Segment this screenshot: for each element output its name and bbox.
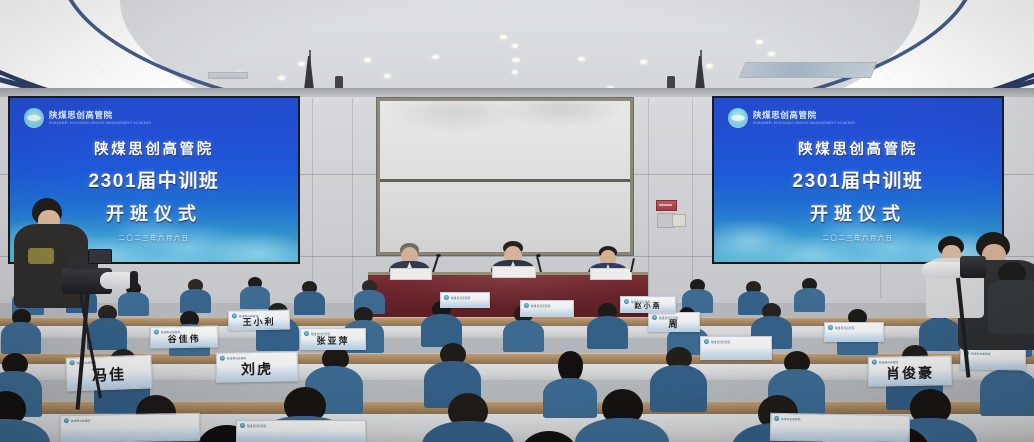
wall-outlet-icon [672, 214, 686, 227]
card-emblem-text: 陕煤思创高管院 [161, 330, 181, 334]
screen-title-line1: 陕煤思创高管院 [94, 138, 214, 159]
card-emblem-text: 陕煤思创高管院 [879, 360, 899, 364]
card-emblem: 陕煤思创高管院 [828, 325, 855, 330]
name-card: 陕煤思创高管院 [770, 413, 910, 442]
institute-emblem-icon [304, 331, 309, 336]
card-emblem-text: 陕煤思创高管院 [711, 340, 731, 344]
name-card: 陕煤思创高管院 [440, 292, 490, 308]
card-emblem-text: 陕煤思创高管院 [531, 304, 551, 308]
screen-title-line2: 2301届中训班 [88, 166, 219, 193]
card-emblem: 陕煤思创高管院 [304, 331, 331, 336]
jacket-graphic [28, 248, 54, 264]
screen-logo-en: SHAANMEI SICHUANG SENIOR MANAGEMENT ACAD… [753, 122, 856, 125]
name-card-label: 刘虎 [241, 358, 273, 379]
card-emblem-text: 陕煤思创高管院 [247, 424, 267, 428]
name-card: 陕煤思创高管院 [960, 347, 1026, 370]
projection-screen-seam [380, 179, 630, 182]
screen-title-line3: 开班仪式 [810, 200, 906, 226]
card-emblem-text: 陕煤思创高管院 [451, 296, 471, 300]
name-card: 陕煤思创高管院肖俊豪 [868, 355, 953, 386]
institute-emblem-icon [444, 295, 449, 300]
screen-logo-cn: 陕煤思创高管院 [753, 111, 856, 120]
card-emblem-text: 陕煤思创高管院 [631, 300, 651, 304]
fire-alarm-icon [656, 200, 677, 211]
institute-emblem-icon [24, 108, 44, 128]
screen-title-line2: 2301届中训班 [792, 166, 923, 193]
card-emblem: 陕煤思创高管院 [704, 339, 731, 344]
card-emblem: 陕煤思创高管院 [232, 313, 259, 318]
name-card: 陕煤思创高管院王小利 [228, 309, 290, 330]
ceiling-spot-icon [162, 78, 169, 82]
ceiling-spot-icon [100, 70, 107, 74]
institute-emblem-icon [232, 313, 237, 318]
name-card: 陕煤思创高管院 [520, 300, 574, 317]
ceiling-spot-icon [578, 57, 585, 61]
card-emblem-text: 陕煤思创高管院 [659, 316, 679, 320]
crew-jacket [988, 280, 1034, 334]
institute-emblem-icon [154, 329, 159, 334]
screen-logo: 陕煤思创高管院 SHAANMEI SICHUANG SENIOR MANAGEM… [728, 108, 856, 128]
card-emblem: 陕煤思创高管院 [64, 418, 91, 423]
institute-emblem-icon [524, 303, 529, 308]
institute-emblem-icon [64, 418, 69, 423]
name-card: 陕煤思创高管院 [236, 420, 366, 442]
card-emblem-text: 陕煤思创高管院 [71, 418, 91, 422]
ceiling-spot-icon [948, 82, 955, 86]
card-emblem: 陕煤思创高管院 [624, 299, 651, 304]
card-emblem-text: 陕煤思创高管院 [311, 332, 331, 336]
ceiling-spot-icon [512, 44, 518, 48]
card-emblem-text: 陕煤思创高管院 [239, 314, 259, 318]
screen-title-block: 陕煤思创高管院 2301届中训班 开班仪式 [714, 138, 1002, 226]
ceiling-spot-icon [512, 70, 518, 74]
screen-logo-en: SHAANMEI SICHUANG SENIOR MANAGEMENT ACAD… [49, 122, 152, 125]
card-emblem: 陕煤思创高管院 [774, 416, 801, 421]
name-card: 陕煤思创高管院 [60, 413, 200, 442]
ceiling-spot-icon [512, 58, 520, 62]
screen-logo-cn: 陕煤思创高管院 [49, 111, 152, 120]
screen-title-line3: 开班仪式 [106, 200, 202, 226]
institute-emblem-icon [240, 423, 245, 428]
ceiling-air-vent [739, 62, 877, 78]
camera-lens-hood-icon [130, 271, 138, 290]
projection-screen-frame [376, 97, 634, 256]
card-emblem: 陕煤思创高管院 [524, 303, 551, 308]
ceiling-spot-icon [432, 55, 439, 59]
ceiling-spot-icon [640, 60, 647, 64]
name-card: 陕煤思创高管院赵小燕 [620, 296, 676, 313]
ceiling [0, 0, 1034, 96]
card-emblem: 陕煤思创高管院 [872, 359, 899, 364]
card-emblem-text: 陕煤思创高管院 [227, 356, 247, 360]
ceiling-spot-icon [756, 40, 763, 44]
screen-logo: 陕煤思创高管院 SHAANMEI SICHUANG SENIOR MANAGEM… [24, 108, 152, 128]
name-card: 陕煤思创高管院张亚萍 [300, 328, 366, 350]
ceiling-spot-icon [768, 52, 775, 56]
card-emblem-text: 陕煤思创高管院 [835, 326, 855, 330]
ceiling-spot-icon [384, 74, 391, 78]
card-emblem: 陕煤思创高管院 [444, 295, 471, 300]
name-card: 陕煤思创高管院谷佳伟 [150, 325, 218, 348]
ceiling-spot-icon [278, 76, 285, 80]
card-emblem: 陕煤思创高管院 [220, 355, 247, 360]
camera-lens-icon [100, 272, 134, 289]
institute-emblem-icon [728, 108, 748, 128]
card-emblem: 陕煤思创高管院 [154, 329, 181, 334]
ceiling-air-vent [208, 72, 248, 79]
ceiling-arc-inner [58, 0, 978, 96]
institute-emblem-icon [704, 339, 709, 344]
projection-screen-surface [380, 101, 630, 252]
card-emblem: 陕煤思创高管院 [652, 315, 679, 320]
name-card: 陕煤思创高管院 [700, 336, 772, 360]
card-emblem-text: 陕煤思创高管院 [971, 351, 991, 355]
institute-emblem-icon [774, 416, 779, 421]
institute-emblem-icon [220, 356, 225, 361]
screen-title-line1: 陕煤思创高管院 [798, 138, 918, 159]
camera-monitor-icon [88, 249, 112, 264]
institute-emblem-icon [872, 360, 877, 365]
ceiling-spot-icon [706, 64, 713, 68]
ceiling-spot-icon [364, 58, 371, 62]
card-emblem: 陕煤思创高管院 [240, 423, 267, 428]
name-card: 陕煤思创高管院周 [648, 312, 700, 332]
name-card-label: 肖俊豪 [886, 362, 934, 383]
institute-emblem-icon [828, 325, 833, 330]
institute-emblem-icon [652, 315, 657, 320]
name-card: 陕煤思创高管院刘虎 [216, 351, 299, 382]
institute-emblem-icon [70, 360, 75, 365]
name-card: 陕煤思创高管院 [824, 322, 884, 342]
institute-emblem-icon [624, 299, 629, 304]
ceiling-spot-icon [500, 35, 507, 39]
ceiling-spot-icon [298, 62, 305, 66]
ceiling-spot-icon [884, 76, 891, 80]
conference-hall-photo: 陕煤思创高管院 SHAANMEI SICHUANG SENIOR MANAGEM… [0, 0, 1034, 442]
card-emblem-text: 陕煤思创高管院 [781, 416, 801, 420]
dslr-camera-icon [960, 256, 986, 278]
crew-hair [998, 262, 1026, 282]
projection-screen-shading [380, 101, 630, 152]
